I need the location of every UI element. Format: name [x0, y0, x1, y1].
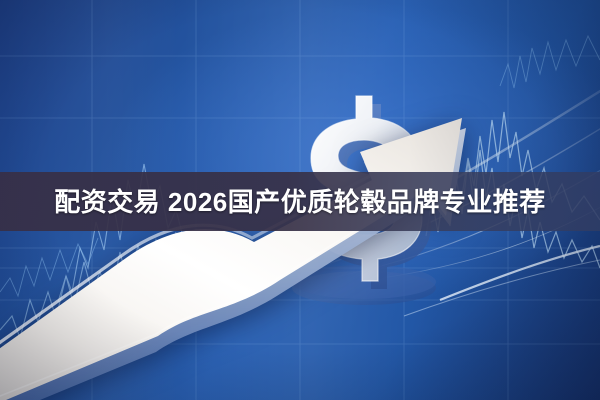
promo-banner: 配资交易 2026国产优质轮毂品牌专业推荐 [0, 0, 600, 400]
banner-title: 配资交易 2026国产优质轮毂品牌专业推荐 [54, 189, 546, 215]
light-streaks [320, 20, 600, 280]
title-band: 配资交易 2026国产优质轮毂品牌专业推荐 [0, 172, 600, 231]
